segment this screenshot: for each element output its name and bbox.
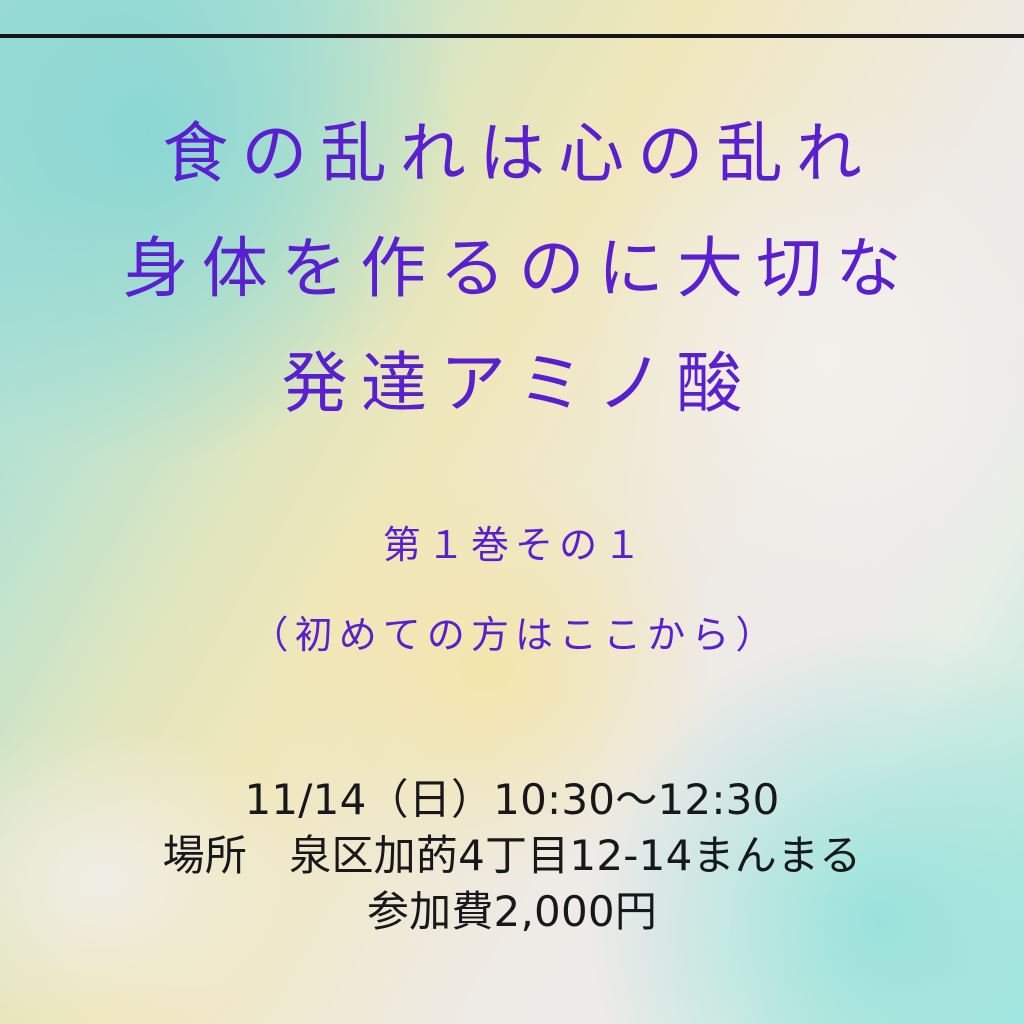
headline-line-3: 発達アミノ酸	[0, 326, 1024, 441]
event-fee: 参加費2,000円	[0, 884, 1024, 940]
event-venue: 場所 泉区加菂4丁目12-14まんまる	[0, 828, 1024, 884]
subtitle-note: （初めての方はここから）	[0, 590, 1024, 680]
event-info-block: 11/14（日）10:30～12:30 場所 泉区加菂4丁目12-14まんまる …	[0, 772, 1024, 940]
subtitle-block: 第１巻その１ （初めての方はここから）	[0, 500, 1024, 680]
poster-content: 食の乱れは心の乱れ 身体を作るのに大切な 発達アミノ酸 第１巻その１ （初めての…	[0, 0, 1024, 1024]
subtitle-volume: 第１巻その１	[0, 500, 1024, 590]
event-datetime: 11/14（日）10:30～12:30	[0, 772, 1024, 828]
headline-line-1: 食の乱れは心の乱れ	[0, 96, 1024, 211]
poster-canvas: 食の乱れは心の乱れ 身体を作るのに大切な 発達アミノ酸 第１巻その１ （初めての…	[0, 0, 1024, 1024]
headline-line-2: 身体を作るのに大切な	[0, 211, 1024, 326]
headline-block: 食の乱れは心の乱れ 身体を作るのに大切な 発達アミノ酸	[0, 96, 1024, 441]
